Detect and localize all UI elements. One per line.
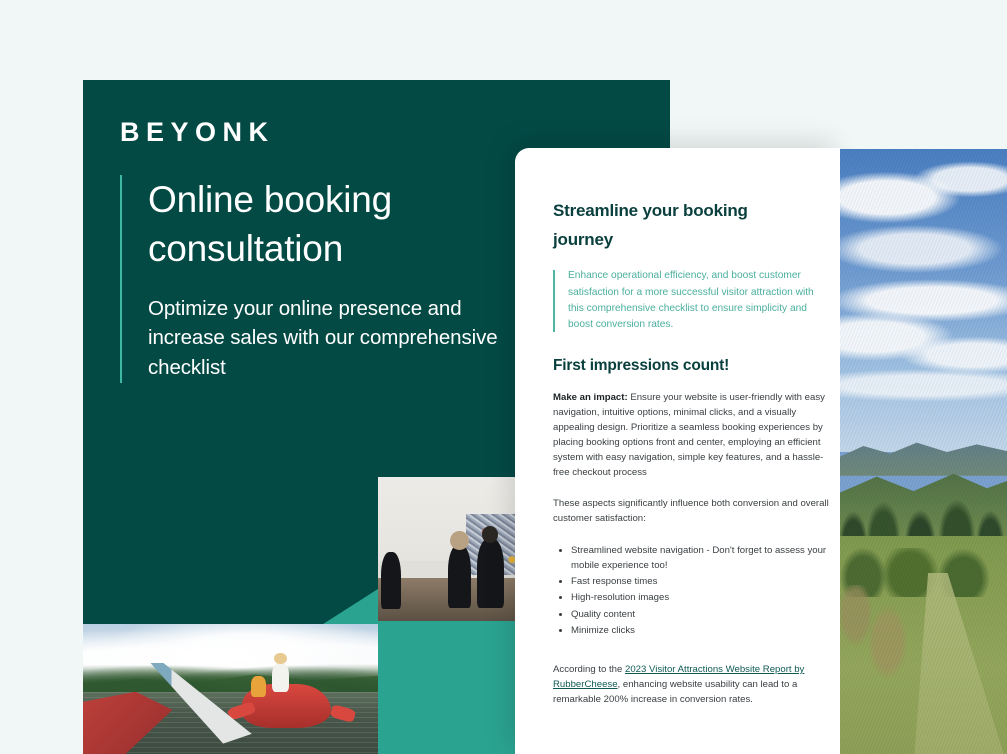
list-item: Fast response times [571,574,829,589]
quote-text: Enhance operational efficiency, and boos… [568,268,829,333]
panel-heading-first-impressions: First impressions count! [553,357,829,375]
landscape-photo [840,149,1007,754]
content-panel-inner: Streamline your booking journey Enhance … [553,196,829,707]
quote-accent-bar [553,270,555,332]
paragraph-body-text: Ensure your website is user-friendly wit… [553,392,825,478]
kayak-paddler [251,676,266,697]
checklist-bullets: Streamlined website navigation - Don't f… [553,543,829,638]
list-item: High-resolution images [571,590,829,605]
source-citation: According to the 2023 Visitor Attraction… [553,662,829,707]
highlight-quote: Enhance operational efficiency, and boos… [553,268,829,333]
kayak-photo [83,624,378,754]
list-item: Streamlined website navigation - Don't f… [571,543,829,573]
content-panel: Streamline your booking journey Enhance … [515,148,840,754]
paragraph-lead-label: Make an impact: [553,392,628,403]
source-prefix: According to the [553,664,625,675]
paragraph-make-an-impact: Make an impact: Ensure your website is u… [553,391,829,481]
page-title: Online booking consultation [148,175,528,273]
kayak-paddler [272,663,290,692]
paragraph-these-aspects: These aspects significantly influence bo… [553,497,829,527]
gallery-visitor [477,539,503,608]
list-item: Quality content [571,607,829,622]
page-subtitle: Optimize your online presence and increa… [148,294,508,382]
list-item: Minimize clicks [571,623,829,638]
panel-heading-streamline: Streamline your booking journey [553,196,798,254]
gallery-visitor [381,552,401,610]
gallery-visitor [448,545,471,608]
landscape-texture [840,149,1007,754]
page-canvas: BEYONK Online booking consultation Optim… [0,0,1007,754]
brand-logo: BEYONK [120,119,275,146]
headline-accent-bar [120,175,122,383]
